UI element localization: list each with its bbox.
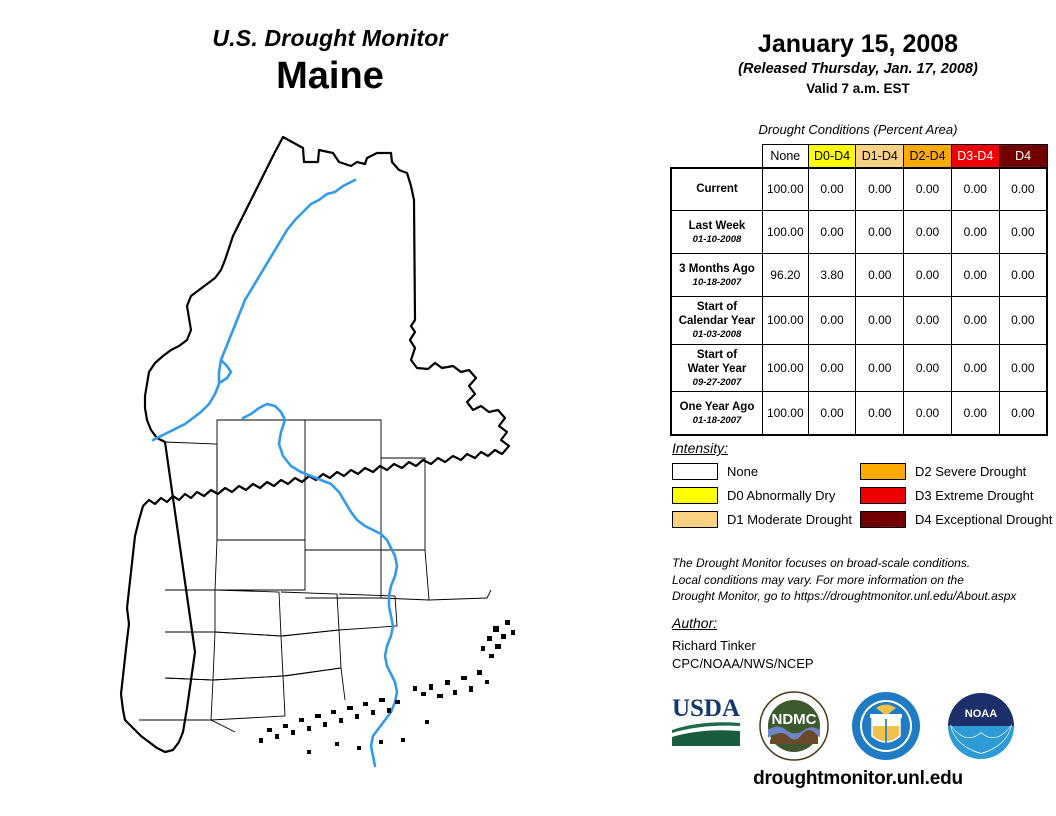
column-header-d0-d4: D0-D4: [808, 145, 856, 168]
cell-value: 0.00: [951, 254, 999, 297]
state-outline: [121, 137, 509, 752]
author-block: Author: Richard Tinker CPC/NOAA/NWS/NCEP: [672, 615, 1052, 672]
info-panel: January 15, 2008 (Released Thursday, Jan…: [660, 0, 1056, 816]
legend-label: D1 Moderate Drought: [727, 512, 852, 527]
table-row: 3 Months Ago10-18-200796.203.800.000.000…: [671, 254, 1047, 297]
cell-value: 100.00: [762, 168, 808, 211]
cell-value: 0.00: [999, 344, 1047, 392]
title-block: U.S. Drought Monitor Maine: [0, 26, 660, 99]
table-row: Start ofCalendar Year01-03-2008100.000.0…: [671, 297, 1047, 345]
legend-swatch: [860, 511, 906, 528]
cell-value: 0.00: [951, 297, 999, 345]
cell-value: 0.00: [999, 168, 1047, 211]
table-header: NoneD0-D4D1-D4D2-D4D3-D4D4: [671, 145, 1047, 168]
table-caption: Drought Conditions (Percent Area): [660, 122, 1056, 137]
legend-label: D2 Severe Drought: [915, 464, 1026, 479]
cell-value: 0.00: [856, 254, 904, 297]
row-label: One Year Ago01-18-2007: [671, 392, 762, 435]
row-date: 10-18-2007: [674, 277, 760, 289]
table-header-row: NoneD0-D4D1-D4D2-D4D3-D4D4: [671, 145, 1047, 168]
cell-value: 0.00: [904, 211, 952, 254]
row-label: Start ofCalendar Year01-03-2008: [671, 297, 762, 345]
legend-swatch: [672, 487, 718, 504]
legend-item: D4 Exceptional Drought: [860, 511, 1056, 528]
cell-value: 0.00: [856, 168, 904, 211]
usda-logo-text: USDA: [672, 695, 740, 722]
cell-value: 0.00: [951, 392, 999, 435]
row-date: 09-27-2007: [674, 377, 760, 389]
legend-item: D2 Severe Drought: [860, 463, 1056, 480]
legend-label: D0 Abnormally Dry: [727, 488, 835, 503]
coastal-islands: [259, 620, 515, 754]
row-date: 01-18-2007: [674, 415, 760, 427]
cell-value: 0.00: [999, 297, 1047, 345]
table-body: Current100.000.000.000.000.000.00Last We…: [671, 168, 1047, 435]
noaa-logo: NOAA: [945, 690, 1017, 767]
row-label: 3 Months Ago10-18-2007: [671, 254, 762, 297]
usda-logo: USDA: [670, 690, 742, 755]
cell-value: 3.80: [808, 254, 856, 297]
disclaimer-line-2: Local conditions may vary. For more info…: [672, 572, 1054, 589]
cell-value: 0.00: [904, 392, 952, 435]
cell-value: 100.00: [762, 392, 808, 435]
row-label: Current: [671, 168, 762, 211]
cell-value: 0.00: [808, 392, 856, 435]
cell-value: 0.00: [904, 344, 952, 392]
cell-value: 96.20: [762, 254, 808, 297]
valid-time: Valid 7 a.m. EST: [660, 81, 1056, 96]
table-corner-cell: [671, 145, 762, 168]
cell-value: 0.00: [808, 297, 856, 345]
cell-value: 0.00: [904, 254, 952, 297]
row-date: 01-03-2008: [674, 329, 760, 341]
cell-value: 0.00: [808, 344, 856, 392]
column-header-none: None: [762, 145, 808, 168]
table-row: Current100.000.000.000.000.000.00: [671, 168, 1047, 211]
legend-swatch: [860, 487, 906, 504]
row-label: Last Week01-10-2008: [671, 211, 762, 254]
legend-item: D3 Extreme Drought: [860, 487, 1056, 504]
maine-drought-map[interactable]: [95, 120, 575, 800]
cell-value: 100.00: [762, 297, 808, 345]
cell-value: 0.00: [951, 211, 999, 254]
doc-logo: [850, 690, 922, 767]
legend-label: D4 Exceptional Drought: [915, 512, 1052, 527]
map-panel: U.S. Drought Monitor Maine: [0, 0, 660, 816]
cell-value: 0.00: [904, 168, 952, 211]
table-row: Last Week01-10-2008100.000.000.000.000.0…: [671, 211, 1047, 254]
author-heading: Author:: [672, 615, 1052, 631]
cell-value: 0.00: [856, 211, 904, 254]
cell-value: 0.00: [856, 392, 904, 435]
cell-value: 0.00: [856, 297, 904, 345]
legend-label: D3 Extreme Drought: [915, 488, 1034, 503]
legend-item: D1 Moderate Drought: [672, 511, 860, 528]
row-label: Start ofWater Year09-27-2007: [671, 344, 762, 392]
page-title: U.S. Drought Monitor: [0, 26, 660, 51]
release-date: (Released Thursday, Jan. 17, 2008): [660, 61, 1056, 77]
intensity-legend: Intensity: NoneD2 Severe DroughtD0 Abnor…: [672, 440, 1056, 528]
table-row: Start ofWater Year09-27-2007100.000.000.…: [671, 344, 1047, 392]
legend-swatch: [860, 463, 906, 480]
author-affiliation: CPC/NOAA/NWS/NCEP: [672, 655, 1052, 673]
cell-value: 0.00: [951, 344, 999, 392]
ndmc-logo-text: NDMC: [772, 711, 817, 728]
cell-value: 0.00: [904, 297, 952, 345]
cell-value: 100.00: [762, 344, 808, 392]
noaa-logo-text: NOAA: [965, 708, 997, 720]
logo-row: USDA NDMC: [660, 690, 1056, 770]
column-header-d3-d4: D3-D4: [951, 145, 999, 168]
state-title: Maine: [0, 55, 660, 99]
legend-swatch: [672, 463, 718, 480]
cell-value: 0.00: [808, 168, 856, 211]
cell-value: 0.00: [951, 168, 999, 211]
site-url[interactable]: droughtmonitor.unl.edu: [660, 768, 1056, 790]
row-date: 01-10-2008: [674, 234, 760, 246]
disclaimer-line-3: Drought Monitor, go to https://droughtmo…: [672, 588, 1054, 605]
map-date: January 15, 2008: [660, 30, 1056, 58]
legend-item: None: [672, 463, 860, 480]
cell-value: 0.00: [999, 211, 1047, 254]
ndmc-logo: NDMC: [758, 690, 830, 767]
author-name: Richard Tinker: [672, 637, 1052, 655]
cell-value: 0.00: [808, 211, 856, 254]
legend-swatch: [672, 511, 718, 528]
column-header-d2-d4: D2-D4: [904, 145, 952, 168]
cell-value: 0.00: [999, 392, 1047, 435]
legend-grid: NoneD2 Severe DroughtD0 Abnormally DryD3…: [672, 463, 1056, 528]
drought-conditions-table: NoneD0-D4D1-D4D2-D4D3-D4D4 Current100.00…: [670, 144, 1048, 436]
disclaimer-line-1: The Drought Monitor focuses on broad-sca…: [672, 555, 1054, 572]
cell-value: 100.00: [762, 211, 808, 254]
disclaimer-text: The Drought Monitor focuses on broad-sca…: [672, 555, 1054, 605]
intensity-heading: Intensity:: [672, 440, 1056, 456]
legend-label: None: [727, 464, 758, 479]
table-row: One Year Ago01-18-2007100.000.000.000.00…: [671, 392, 1047, 435]
date-block: January 15, 2008 (Released Thursday, Jan…: [660, 30, 1056, 96]
cell-value: 0.00: [999, 254, 1047, 297]
column-header-d1-d4: D1-D4: [856, 145, 904, 168]
column-header-d4: D4: [999, 145, 1047, 168]
cell-value: 0.00: [856, 344, 904, 392]
legend-item: D0 Abnormally Dry: [672, 487, 860, 504]
map-svg: [95, 120, 575, 800]
